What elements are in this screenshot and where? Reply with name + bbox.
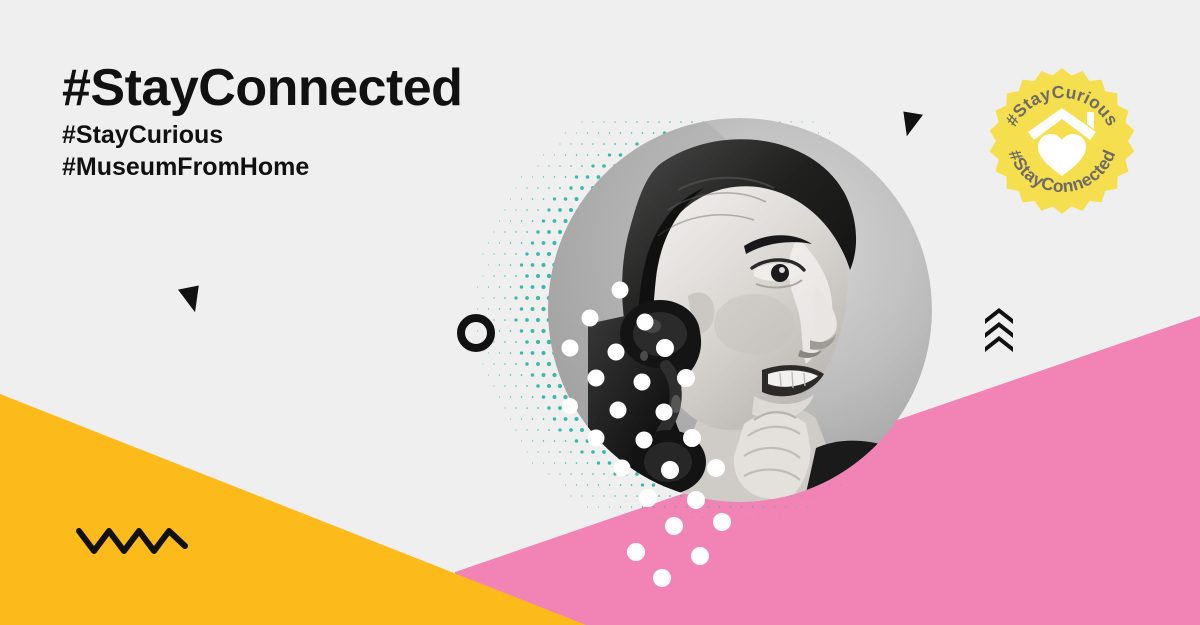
chevrons-up-icon	[982, 308, 1016, 352]
triangle-right-icon	[903, 109, 925, 136]
headline-block: #StayConnected #StayCurious #MuseumFromH…	[62, 62, 462, 183]
subtitle-museum-from-home: #MuseumFromHome	[62, 151, 462, 183]
zigzag-icon	[76, 524, 188, 558]
ring-icon	[457, 314, 495, 352]
banner-canvas: #StayConnected #StayCurious #MuseumFromH…	[0, 0, 1200, 625]
portrait-photo	[548, 118, 932, 502]
subtitle-stay-curious: #StayCurious	[62, 119, 462, 151]
page-title: #StayConnected	[62, 62, 462, 115]
stay-curious-badge: #StayCurious #StayConnected	[986, 68, 1138, 214]
triangle-left-icon	[175, 283, 199, 313]
